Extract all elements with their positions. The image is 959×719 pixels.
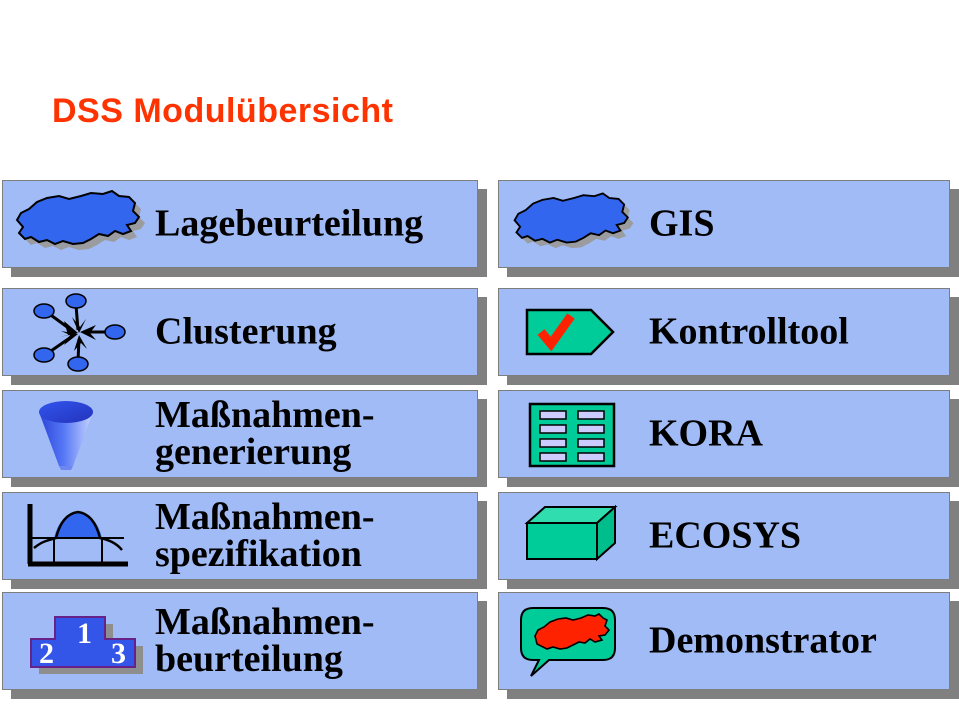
slide-canvas: DSS Modulübersicht Lagebeurteilung xyxy=(0,0,959,719)
module-label: Maßnahmen- spezifikation xyxy=(155,499,375,573)
swiss-map-blue-icon xyxy=(11,181,151,267)
green-table-grid-icon xyxy=(509,391,639,477)
module-card-demonstrator[interactable]: Demonstrator xyxy=(498,592,950,690)
green-3d-box-icon xyxy=(509,493,639,579)
module-label: ECOSYS xyxy=(649,517,801,554)
module-label: Maßnahmen- generierung xyxy=(155,397,375,471)
swiss-map-blue-icon xyxy=(509,181,639,267)
module-label: Maßnahmen- beurteilung xyxy=(155,604,375,678)
module-card-massnahmenbeurteilung[interactable]: 1 2 3 Maßnahmen- beurteilung xyxy=(2,592,478,690)
module-card-clusterung[interactable]: Clusterung xyxy=(2,288,478,376)
green-speech-bubble-swiss-map-icon xyxy=(509,593,639,689)
module-card-kora[interactable]: KORA xyxy=(498,390,950,478)
module-label: GIS xyxy=(649,205,714,242)
podium-number-first: 1 xyxy=(77,617,92,650)
podium-number-second: 2 xyxy=(39,637,54,670)
module-card-ecosys[interactable]: ECOSYS xyxy=(498,492,950,580)
green-arrow-checkmark-icon xyxy=(509,289,639,375)
cluster-arrows-icon xyxy=(11,289,151,375)
module-label: Demonstrator xyxy=(649,622,877,659)
module-card-kontrolltool[interactable]: Kontrolltool xyxy=(498,288,950,376)
module-label: Kontrolltool xyxy=(649,313,849,350)
module-card-massnahmenspezifikation[interactable]: Maßnahmen- spezifikation xyxy=(2,492,478,580)
module-label: KORA xyxy=(649,415,763,452)
module-label: Clusterung xyxy=(155,313,337,350)
module-card-lagebeurteilung[interactable]: Lagebeurteilung xyxy=(2,180,478,268)
page-title: DSS Modulübersicht xyxy=(52,92,393,131)
podium-number-third: 3 xyxy=(111,637,126,670)
podium-ranking-icon: 1 2 3 xyxy=(11,593,151,689)
module-card-gis[interactable]: GIS xyxy=(498,180,950,268)
blue-cone-icon xyxy=(11,391,151,477)
module-label: Lagebeurteilung xyxy=(155,205,423,242)
module-card-massnahmengenerierung[interactable]: Maßnahmen- generierung xyxy=(2,390,478,478)
bell-curve-chart-icon xyxy=(11,493,151,579)
